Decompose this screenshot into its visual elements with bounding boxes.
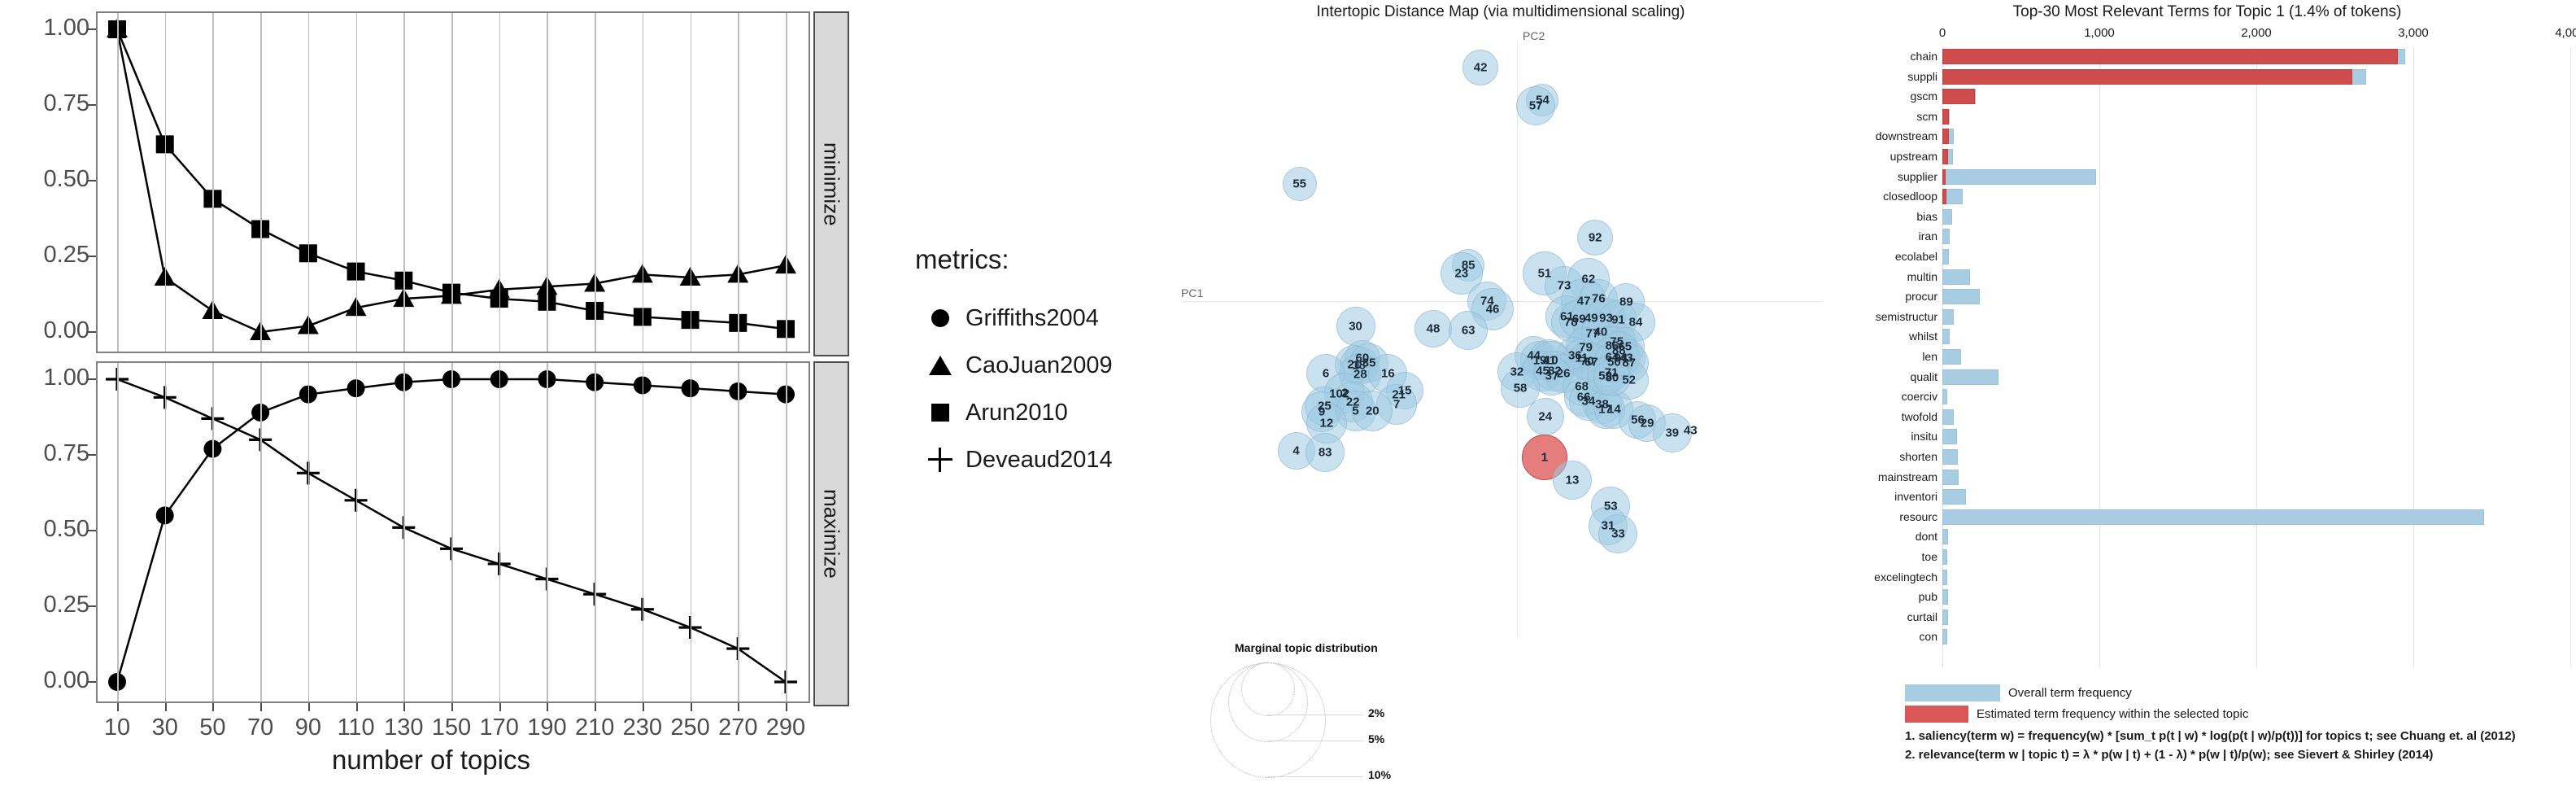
- y-tick-label: 0.25: [0, 592, 89, 618]
- overall-frequency-bar: [1942, 449, 1958, 465]
- term-label: curtail: [1907, 610, 1937, 625]
- overall-frequency-bar: [1942, 489, 1966, 505]
- gridline: [499, 363, 501, 701]
- legend-item-deveaud2014: Deveaud2014: [915, 436, 1113, 483]
- term-row[interactable]: supplier: [1838, 168, 2576, 187]
- gridline: [117, 363, 119, 701]
- legend-item-griffiths2004: Griffiths2004: [915, 295, 1113, 342]
- topic-bubble-label: 4: [1292, 444, 1299, 457]
- overall-frequency-bar: [1942, 309, 1954, 325]
- term-row[interactable]: coerciv: [1838, 387, 2576, 407]
- x-tick-label: 0: [1914, 26, 1971, 40]
- mtd-title: Marginal topic distribution: [1235, 641, 1378, 654]
- term-row[interactable]: mainstream: [1838, 468, 2576, 487]
- topic-bubble-label: 47: [1577, 295, 1591, 308]
- x-tick-label: 4,000: [2542, 26, 2576, 40]
- topic-bubble-label: 51: [1538, 267, 1552, 281]
- overall-frequency-bar: [1942, 470, 1959, 485]
- overall-frequency-bar: [1942, 249, 1949, 264]
- topic-bubble-label: 53: [1604, 500, 1618, 513]
- term-label: pub: [1919, 589, 1937, 605]
- topic-bubble-label: 28: [1353, 368, 1367, 382]
- overall-frequency-bar: [1942, 169, 2096, 185]
- term-row[interactable]: multin: [1838, 268, 2576, 287]
- topic-bubble-label: 76: [1592, 292, 1606, 306]
- term-row[interactable]: procur: [1838, 287, 2576, 307]
- topic-bubble-label: 30: [1349, 319, 1362, 333]
- topic-bubble-label: 23: [1455, 266, 1469, 280]
- legend-label: Griffiths2004: [965, 305, 1099, 332]
- term-row[interactable]: suppli: [1838, 68, 2576, 87]
- term-row[interactable]: qualit: [1838, 368, 2576, 387]
- gridline: [308, 363, 310, 701]
- gridline: [165, 363, 167, 701]
- estimated-frequency-bar: [1942, 169, 1946, 185]
- y-tick-label: 0.50: [0, 166, 89, 193]
- size-leader-5pct: [1267, 741, 1363, 741]
- term-row[interactable]: excelingtech: [1838, 568, 2576, 588]
- gridline: [260, 363, 262, 701]
- gridline: [691, 13, 692, 352]
- gridline: [643, 363, 644, 701]
- term-row[interactable]: pub: [1838, 588, 2576, 607]
- overall-frequency-bar: [1942, 610, 1948, 625]
- topic-bubble-label: 80: [1606, 370, 1619, 384]
- terms-legend: Overall term frequency Estimated term fr…: [1905, 682, 2516, 762]
- gridline: [738, 13, 739, 352]
- topic-bubble-label: 12: [1320, 417, 1334, 430]
- triangle-marker-icon: [915, 356, 965, 375]
- x-tick-mark: [547, 703, 548, 711]
- topic-bubble-label: 14: [1607, 403, 1621, 417]
- gridline: [595, 13, 596, 352]
- marginal-topic-distribution-legend: Marginal topic distribution 2% 5% 10%: [1188, 641, 1529, 788]
- note-relevance: 2. relevance(term w | topic t) = λ * p(w…: [1905, 748, 2516, 762]
- overall-frequency-bar: [1942, 389, 1947, 404]
- term-row[interactable]: insitu: [1838, 427, 2576, 447]
- overall-frequency-bar: [1942, 349, 1961, 365]
- topic-bubble-label: 58: [1514, 381, 1528, 395]
- topic-bubble-label: 33: [1611, 527, 1625, 541]
- topic-bubble-label: 48: [1427, 321, 1441, 335]
- term-row[interactable]: shorten: [1838, 448, 2576, 467]
- term-row[interactable]: upstream: [1838, 147, 2576, 167]
- term-row[interactable]: curtail: [1838, 608, 2576, 627]
- term-label: excelingtech: [1874, 570, 1937, 585]
- topic-bubble-label: 83: [1319, 445, 1332, 459]
- term-row[interactable]: iran: [1838, 227, 2576, 247]
- term-row[interactable]: twofold: [1838, 408, 2576, 427]
- circle-marker-icon: [915, 309, 965, 327]
- topic-bubble-label: 91: [1611, 312, 1625, 326]
- topic-bubble-label: 37: [1545, 369, 1559, 383]
- plus-marker-icon: [915, 448, 965, 472]
- term-label: inventori: [1894, 489, 1937, 505]
- term-label: whilst: [1909, 329, 1937, 344]
- overall-frequency-bar: [1942, 209, 1952, 225]
- term-row[interactable]: semistructur: [1838, 308, 2576, 327]
- x-tick-mark: [691, 703, 692, 711]
- x-tick-label: 1,000: [2071, 26, 2128, 40]
- term-row[interactable]: bias: [1838, 208, 2576, 227]
- term-row[interactable]: resourc: [1838, 508, 2576, 527]
- overall-frequency-bar: [1942, 229, 1950, 244]
- gridline: [786, 363, 787, 701]
- gridline: [308, 13, 310, 352]
- estimated-frequency-label: Estimated term frequency within the sele…: [1977, 707, 2248, 721]
- gridline: [691, 363, 692, 701]
- term-label: qualit: [1911, 369, 1937, 385]
- y-tick-label: 0.50: [0, 516, 89, 543]
- size-leader-2pct: [1267, 715, 1363, 715]
- topic-bubble-label: 40: [1593, 326, 1607, 339]
- term-label: insitu: [1911, 429, 1937, 444]
- term-label: toe: [1922, 549, 1937, 565]
- term-label: mainstream: [1878, 470, 1937, 485]
- strip-label-maximize: maximize: [813, 361, 849, 706]
- idm-title: Intertopic Distance Map (via multidimens…: [1163, 3, 1838, 21]
- x-tick-mark: [738, 703, 739, 711]
- term-row[interactable]: whilst: [1838, 327, 2576, 347]
- estimated-frequency-bar: [1942, 189, 1946, 204]
- x-tick-mark: [165, 703, 167, 711]
- estimated-frequency-bar: [1942, 109, 1949, 125]
- plot-panel-minimize: [96, 11, 810, 353]
- x-tick-mark: [499, 703, 501, 711]
- x-axis-title: number of topics: [332, 745, 530, 776]
- x-tick-mark: [212, 703, 214, 711]
- y-tick-label: 0.75: [0, 440, 89, 467]
- gridline: [643, 13, 644, 352]
- strip-label-minimize: minimize: [813, 11, 849, 356]
- topic-bubble-label: 34: [1582, 394, 1596, 408]
- overall-frequency-bar: [1942, 329, 1950, 344]
- y-tick-mark: [88, 605, 96, 607]
- term-row[interactable]: gscm: [1838, 87, 2576, 107]
- gridline: [403, 13, 405, 352]
- topic-bubble-label: 55: [1292, 177, 1306, 191]
- pc2-axis-label: PC2: [1523, 29, 1545, 42]
- strip-text-minimize: minimize: [819, 142, 844, 226]
- legend-item-arun2010: Arun2010: [915, 389, 1113, 436]
- topic-bubble-label: 89: [1619, 295, 1633, 309]
- x-tick-mark: [356, 703, 358, 711]
- term-label: downstream: [1876, 129, 1937, 144]
- size-value-10pct: 10%: [1368, 768, 1391, 781]
- topic-bubble-label: 84: [1629, 316, 1643, 330]
- term-row[interactable]: con: [1838, 627, 2576, 647]
- estimated-frequency-bar: [1942, 69, 2352, 85]
- term-label: suppli: [1907, 69, 1937, 85]
- topic-bubble-label: 13: [1566, 474, 1580, 487]
- x-tick-mark: [643, 703, 644, 711]
- topic-bubble-label: 42: [1474, 61, 1488, 75]
- y-tick-mark: [88, 28, 96, 30]
- size-value-5pct: 5%: [1368, 732, 1384, 745]
- y-tick-mark: [88, 180, 96, 181]
- term-label: dont: [1916, 529, 1937, 544]
- term-row[interactable]: len: [1838, 347, 2576, 367]
- term-label: shorten: [1899, 449, 1937, 465]
- y-tick-label: 0.75: [0, 90, 89, 117]
- legend-row-overall: Overall term frequency: [1905, 682, 2516, 703]
- gridline: [547, 13, 548, 352]
- gridline: [260, 13, 262, 352]
- term-label: chain: [1911, 49, 1937, 64]
- estimated-frequency-bar: [1942, 49, 2398, 64]
- term-label: semistructur: [1876, 309, 1937, 325]
- overall-frequency-bar: [1942, 509, 2484, 525]
- x-tick-label: 3,000: [2385, 26, 2442, 40]
- term-row[interactable]: chain: [1838, 47, 2576, 67]
- topic-bubble-label: 32: [1510, 365, 1524, 379]
- topic-bubble-label: 57: [1529, 99, 1543, 113]
- overall-frequency-bar: [1942, 269, 1970, 285]
- intertopic-distance-map: Intertopic Distance Map (via multidimens…: [1163, 0, 1838, 791]
- terms-x-axis: 01,0002,0003,0004,000: [1838, 26, 2576, 47]
- estimated-frequency-bar: [1942, 129, 1949, 144]
- term-label: resourc: [1899, 509, 1937, 525]
- y-tick-mark: [88, 331, 96, 333]
- term-label: bias: [1916, 209, 1937, 225]
- overall-frequency-swatch: [1905, 684, 2000, 701]
- term-row[interactable]: inventori: [1838, 487, 2576, 507]
- idm-plot-area[interactable]: PC2 PC1 42545755852351927362744676894730…: [1163, 24, 1838, 643]
- overall-frequency-bar: [1942, 369, 1998, 385]
- term-label: scm: [1916, 109, 1937, 125]
- y-tick-label: 1.00: [0, 365, 89, 391]
- overall-frequency-bar: [1942, 589, 1948, 605]
- topic-bubble-label: 92: [1589, 231, 1602, 245]
- overall-frequency-bar: [1942, 570, 1947, 585]
- term-label: procur: [1905, 289, 1937, 304]
- y-tick-label: 0.25: [0, 242, 89, 269]
- x-tick-mark: [451, 703, 453, 711]
- gridline: [403, 363, 405, 701]
- y-tick-mark: [88, 681, 96, 683]
- pc2-axis-line: [1517, 42, 1518, 636]
- top-terms-bar-chart: Top-30 Most Relevant Terms for Topic 1 (…: [1838, 0, 2576, 791]
- term-label: coerciv: [1902, 389, 1937, 404]
- x-tick-label: 2,000: [2228, 26, 2285, 40]
- overall-frequency-bar: [1942, 429, 1957, 444]
- topic-bubble-label: 73: [1558, 278, 1571, 292]
- gridline: [499, 13, 501, 352]
- terms-title: Top-30 Most Relevant Terms for Topic 1 (…: [1838, 3, 2576, 21]
- term-label: twofold: [1902, 409, 1937, 425]
- term-label: ecolabel: [1895, 249, 1937, 264]
- legend-item-caojuan2009: CaoJuan2009: [915, 342, 1113, 389]
- gridline: [117, 13, 119, 352]
- topic-bubble-label: 43: [1684, 424, 1698, 438]
- topic-bubble-label: 39: [1665, 426, 1679, 440]
- overall-frequency-bar: [1942, 289, 1980, 304]
- metrics-legend: metrics: Griffiths2004 CaoJuan2009 Arun2…: [915, 244, 1113, 483]
- y-tick-label: 0.00: [0, 317, 89, 344]
- x-tick-mark: [260, 703, 262, 711]
- size-value-2pct: 2%: [1368, 706, 1384, 719]
- legend-label: Deveaud2014: [965, 447, 1113, 474]
- topic-bubble-label: 67: [1584, 355, 1598, 369]
- gridline: [356, 13, 358, 352]
- term-row[interactable]: toe: [1838, 548, 2576, 567]
- x-tick-mark: [595, 703, 596, 711]
- legend-label: Arun2010: [965, 400, 1068, 426]
- x-tick-mark: [403, 703, 405, 711]
- topic-bubble-label: 5: [1352, 404, 1358, 418]
- strip-text-maximize: maximize: [819, 489, 844, 579]
- size-ring-2pct: [1241, 662, 1295, 716]
- topic-bubble-label: 24: [1538, 409, 1552, 423]
- topic-bubble-label: 6: [1323, 366, 1329, 380]
- term-label: gscm: [1911, 89, 1937, 104]
- pc1-axis-label: PC1: [1181, 286, 1203, 299]
- ldatuning-metrics-chart: minimize maximize 0.000.250.500.751.000.…: [0, 0, 862, 791]
- gridline: [451, 13, 453, 352]
- estimated-frequency-bar: [1942, 149, 1948, 164]
- x-tick-mark: [117, 703, 119, 711]
- y-tick-mark: [88, 378, 96, 380]
- legend-row-estimated: Estimated term frequency within the sele…: [1905, 703, 2516, 724]
- y-tick-mark: [88, 454, 96, 456]
- gridline: [595, 363, 596, 701]
- topic-bubble-label: 29: [1641, 417, 1654, 430]
- topic-bubble-label: 1: [1541, 451, 1548, 465]
- gridline: [738, 363, 739, 701]
- overall-frequency-bar: [1942, 529, 1948, 544]
- gridline: [547, 363, 548, 701]
- gridline: [212, 363, 214, 701]
- y-tick-mark: [88, 256, 96, 257]
- overall-frequency-label: Overall term frequency: [2008, 686, 2132, 700]
- x-tick-label: 290: [753, 715, 818, 741]
- note-saliency: 1. saliency(term w) = frequency(w) * [su…: [1905, 729, 2516, 743]
- term-label: iran: [1919, 229, 1937, 244]
- size-leader-10pct: [1267, 776, 1363, 777]
- y-tick-label: 0.00: [0, 667, 89, 694]
- term-row[interactable]: closedloop: [1838, 187, 2576, 207]
- term-label: closedloop: [1883, 189, 1937, 204]
- topic-bubble-label: 63: [1462, 324, 1475, 338]
- overall-frequency-bar: [1942, 549, 1947, 565]
- term-row[interactable]: scm: [1838, 107, 2576, 127]
- gridline: [786, 13, 787, 352]
- term-label: len: [1922, 349, 1937, 365]
- overall-frequency-bar: [1942, 629, 1947, 645]
- topic-bubble-label: 49: [1584, 312, 1598, 326]
- x-tick-mark: [308, 703, 310, 711]
- square-marker-icon: [915, 404, 965, 422]
- estimated-frequency-swatch: [1905, 706, 1968, 723]
- term-label: multin: [1907, 269, 1937, 285]
- topic-bubble-label: 46: [1486, 302, 1500, 316]
- gridline: [165, 13, 167, 352]
- plot-panel-maximize: [96, 361, 810, 703]
- term-row[interactable]: downstream: [1838, 127, 2576, 146]
- topic-bubble-label: 87: [1622, 356, 1636, 370]
- gridline: [212, 13, 214, 352]
- term-label: con: [1919, 629, 1937, 645]
- topic-bubble-label: 20: [1366, 404, 1380, 418]
- term-row[interactable]: ecolabel: [1838, 247, 2576, 267]
- term-label: supplier: [1898, 169, 1937, 185]
- y-tick-label: 1.00: [0, 15, 89, 42]
- term-label: upstream: [1890, 149, 1937, 164]
- x-tick-mark: [786, 703, 787, 711]
- topic-bubble-label: 62: [1582, 273, 1596, 286]
- y-tick-mark: [88, 104, 96, 106]
- topic-bubble-label: 52: [1622, 374, 1636, 387]
- term-row[interactable]: dont: [1838, 527, 2576, 547]
- legend-label: CaoJuan2009: [965, 352, 1113, 379]
- topic-bubble-label: 16: [1381, 367, 1395, 381]
- gridline: [356, 363, 358, 701]
- overall-frequency-bar: [1942, 409, 1954, 425]
- gridline: [451, 363, 453, 701]
- topic-bubble-label: 7: [1393, 397, 1400, 411]
- estimated-frequency-bar: [1942, 89, 1975, 104]
- legend-title: metrics:: [915, 244, 1113, 275]
- y-tick-mark: [88, 530, 96, 531]
